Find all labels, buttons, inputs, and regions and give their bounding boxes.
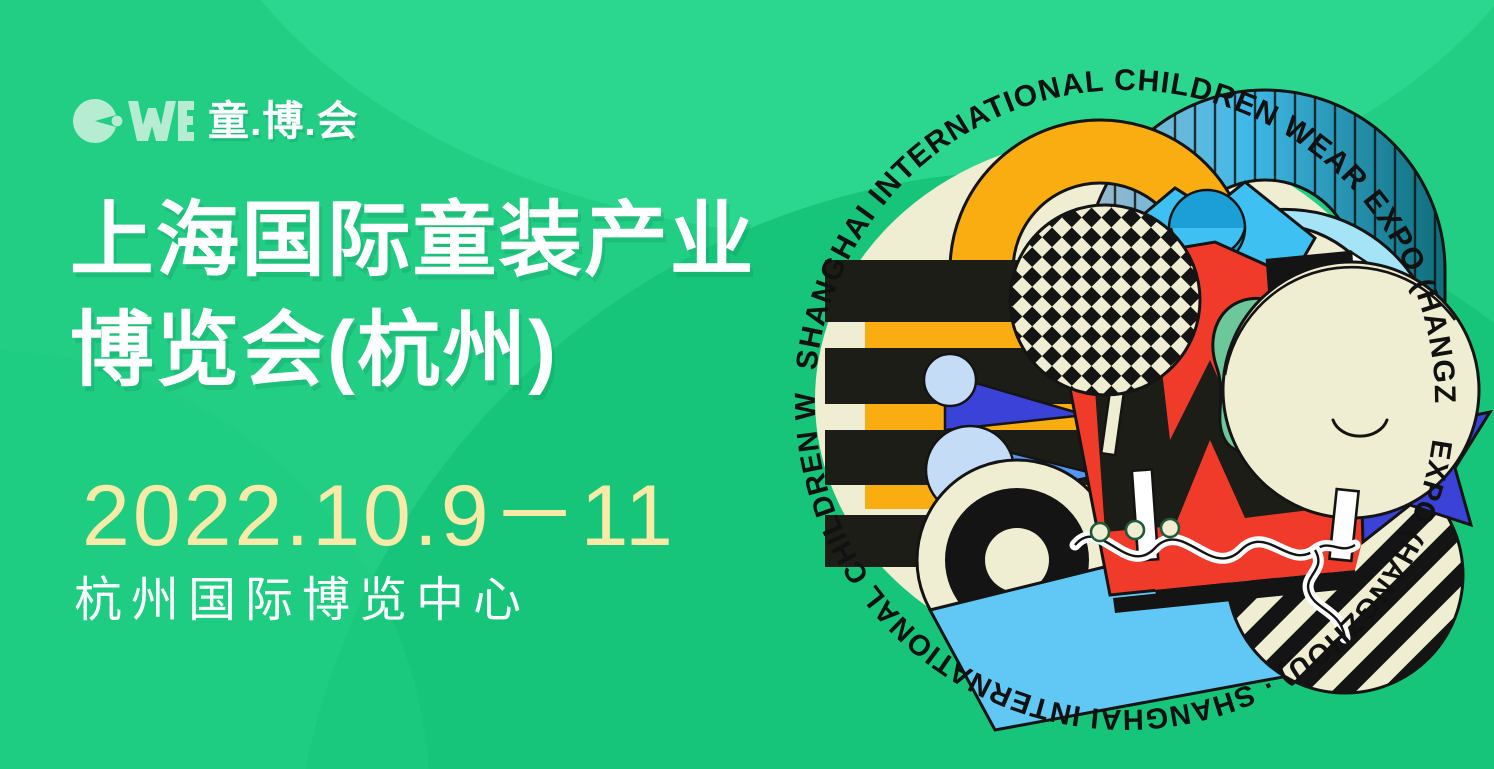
event-venue: 杭州国际博览中心: [74, 577, 530, 625]
cwe-pacman-logo-icon: [72, 98, 194, 144]
title-line-1: 上海国际童装产业: [70, 186, 906, 296]
poster-canvas: SHANGHAI INTERNATIONAL CHILDREN WEAR EXP…: [0, 0, 1494, 769]
brand-name-cn: 童.博.会: [208, 101, 359, 142]
title-line-2: 博览会(杭州): [70, 296, 906, 406]
event-date: 2022.10.9－11: [82, 473, 676, 559]
poster-title: 上海国际童装产业 博览会(杭州): [70, 186, 890, 406]
brand-lockup: 童.博.会: [72, 98, 359, 144]
